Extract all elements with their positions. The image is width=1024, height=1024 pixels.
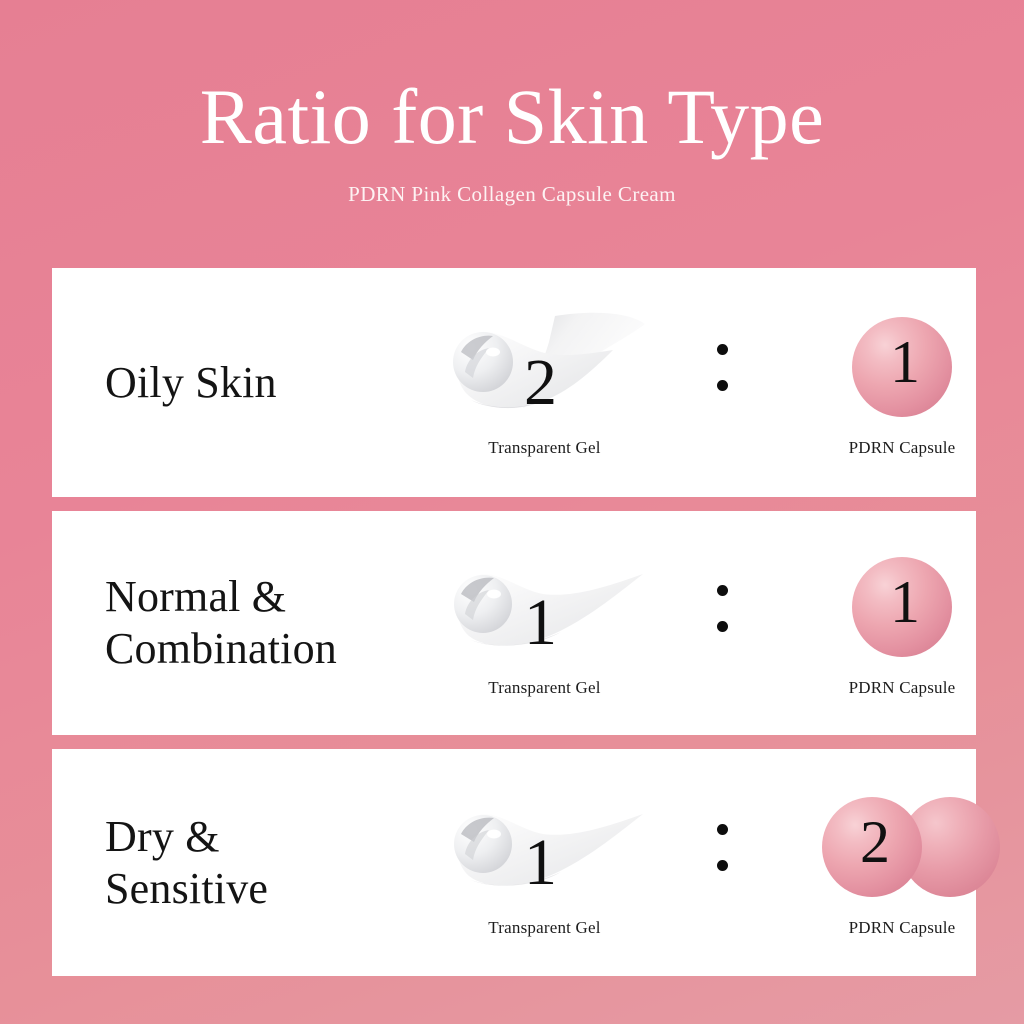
ratio-card-list: Oily Skin: [52, 268, 976, 976]
pdrn-capsule-icon: 2: [812, 788, 992, 906]
gel-part: 1 Transparent Gel: [422, 511, 667, 735]
skin-type-label-line1: Normal &: [105, 571, 422, 623]
gel-caption: Transparent Gel: [488, 678, 600, 698]
skin-type-label-line1: Dry &: [105, 811, 422, 863]
capsule-quantity: 2: [860, 812, 890, 872]
colon-dot-top: [717, 824, 728, 835]
capsule-caption: PDRN Capsule: [849, 918, 956, 938]
colon-dot-top: [717, 344, 728, 355]
ratio-expression: 2 Transparent Gel 1 PDRN Capsule: [422, 268, 1024, 497]
pdrn-capsule-icon: 1: [812, 548, 992, 666]
pdrn-capsule-icon: 1: [812, 308, 992, 426]
colon-dot-bottom: [717, 380, 728, 391]
colon-dot-bottom: [717, 621, 728, 632]
colon-dot-top: [717, 585, 728, 596]
gel-quantity: 1: [524, 590, 557, 656]
capsule-caption: PDRN Capsule: [849, 438, 956, 458]
ratio-separator: [667, 268, 777, 497]
ratio-expression: 1 Transparent Gel 2 PDRN Capsule: [422, 749, 1024, 976]
ratio-separator: [667, 511, 777, 735]
capsule-part: 1 PDRN Capsule: [777, 268, 1024, 497]
colon-dot-bottom: [717, 860, 728, 871]
gel-part: 1 Transparent Gel: [422, 749, 667, 976]
ratio-row-normal-combination: Normal & Combination: [52, 511, 976, 735]
skin-type-label: Oily Skin: [52, 357, 422, 409]
ratio-row-dry-sensitive: Dry & Sensitive: [52, 749, 976, 976]
page-subtitle: PDRN Pink Collagen Capsule Cream: [0, 156, 1024, 207]
ratio-expression: 1 Transparent Gel 1 PDRN Capsule: [422, 511, 1024, 735]
skin-type-label-line1: Oily Skin: [105, 357, 422, 409]
ratio-row-oily-skin: Oily Skin: [52, 268, 976, 497]
gel-part: 2 Transparent Gel: [422, 268, 667, 497]
capsule-quantity: 1: [890, 572, 920, 632]
skin-type-label-line2: Combination: [105, 623, 422, 675]
capsule-caption: PDRN Capsule: [849, 678, 956, 698]
capsule-part: 1 PDRN Capsule: [777, 511, 1024, 735]
skin-type-label: Dry & Sensitive: [52, 811, 422, 915]
poster-header: Ratio for Skin Type PDRN Pink Collagen C…: [0, 0, 1024, 207]
page-title: Ratio for Skin Type: [0, 78, 1024, 156]
skin-type-label: Normal & Combination: [52, 571, 422, 675]
gel-caption: Transparent Gel: [488, 438, 600, 458]
ratio-separator: [667, 749, 777, 976]
skin-type-label-line2: Sensitive: [105, 863, 422, 915]
capsule-part: 2 PDRN Capsule: [777, 749, 1024, 976]
skin-type-ratio-poster: Ratio for Skin Type PDRN Pink Collagen C…: [0, 0, 1024, 1024]
gel-quantity: 1: [524, 830, 557, 896]
gel-quantity: 2: [524, 350, 557, 416]
capsule-quantity: 1: [890, 332, 920, 392]
gel-caption: Transparent Gel: [488, 918, 600, 938]
